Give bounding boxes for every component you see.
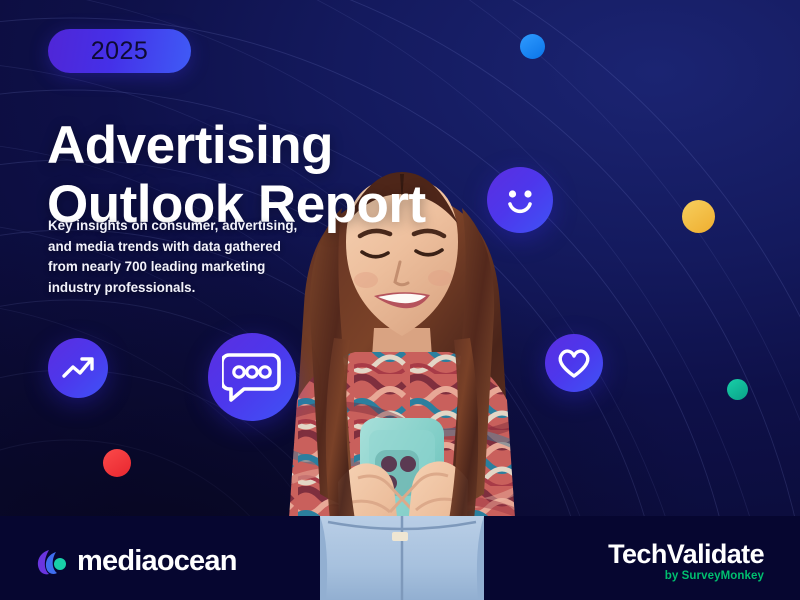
techvalidate-byline: by SurveyMonkey <box>608 570 764 582</box>
teal-dot <box>727 379 748 400</box>
techvalidate-wordmark: TechValidate <box>608 540 764 568</box>
report-cover: 2025 Advertising Outlook Report Key insi… <box>0 0 800 600</box>
year-badge: 2025 <box>48 29 191 73</box>
techvalidate-logo[interactable]: TechValidate by SurveyMonkey <box>608 540 764 582</box>
blue-dot <box>520 34 545 59</box>
cover-photo-footer-overlap <box>242 516 562 600</box>
red-dot <box>103 449 131 477</box>
year-badge-label: 2025 <box>91 37 149 66</box>
amber-dot <box>682 200 715 233</box>
mediaocean-wordmark: mediaocean <box>77 545 237 578</box>
mediaocean-mark-icon <box>36 548 68 576</box>
trending-up-icon <box>48 338 108 398</box>
title-line-1: Advertising <box>47 116 333 175</box>
chat-bubble-icon <box>208 333 296 421</box>
mediaocean-logo[interactable]: mediaocean <box>36 545 237 578</box>
page-subtitle: Key insights on consumer, advertising, a… <box>48 216 303 298</box>
heart-icon <box>545 334 603 392</box>
